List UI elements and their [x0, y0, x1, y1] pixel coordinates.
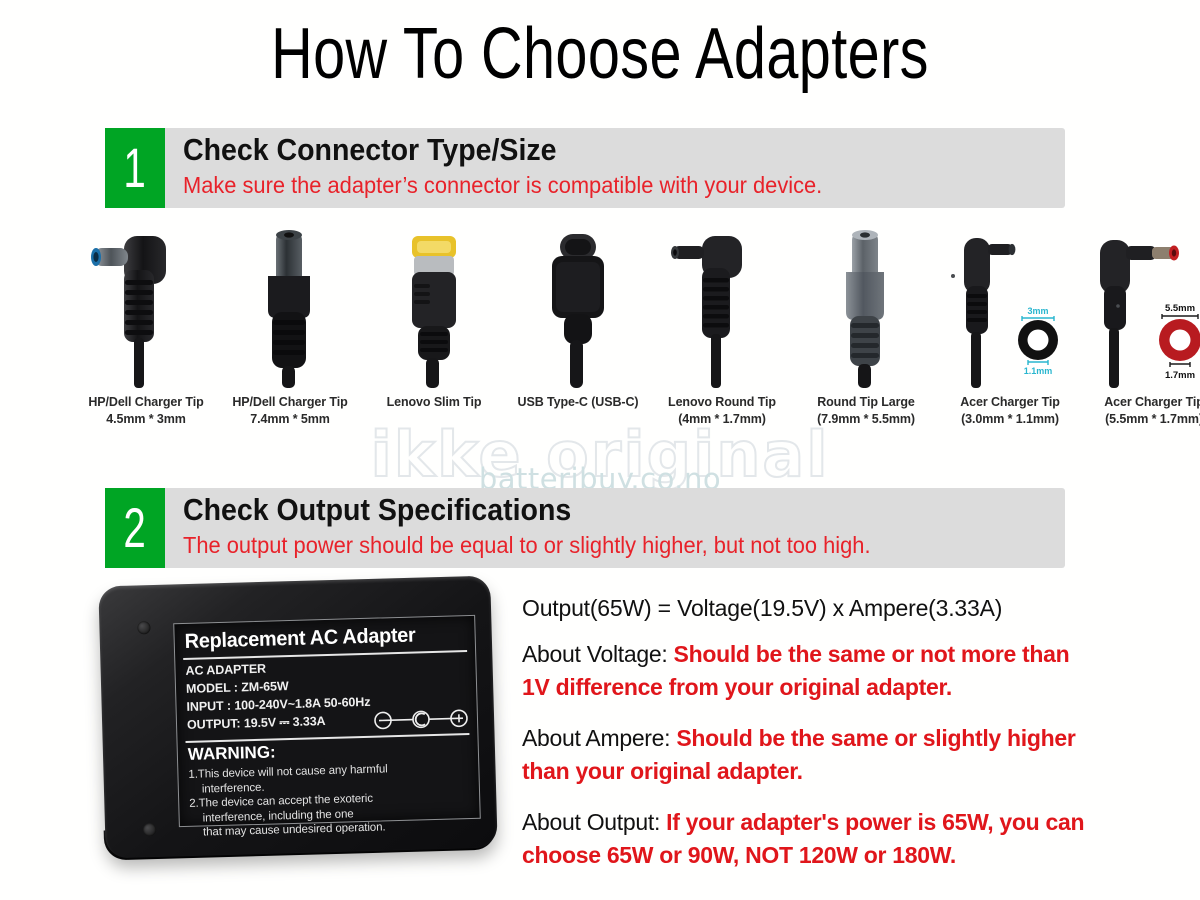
connector-name-2: Lenovo Slim Tip	[356, 394, 512, 411]
about-output-block: About Output: If your adapter's power is…	[522, 806, 1102, 872]
connector-name-5: Round Tip Large	[788, 394, 944, 411]
red-ring-diagram: 5.5mm 1.7mm	[1159, 303, 1200, 381]
step-2-subheading: The output power should be equal to or s…	[183, 532, 871, 559]
round-tip-large-gray-icon	[800, 228, 932, 388]
infographic-page: How To Choose Adapters 1 Check Connector…	[0, 0, 1200, 900]
usb-type-c-connector-icon	[512, 228, 644, 388]
black-ring-diagram: 3mm 1.1mm	[1018, 306, 1058, 376]
connector-item-6[interactable]: 3mm 1.1mm Acer Charger Tip (3.0mm * 1.1m…	[944, 228, 1076, 438]
connector-item-1[interactable]: HP/Dell Charger Tip 7.4mm * 5mm	[224, 228, 356, 438]
step-1-number-badge: 1	[105, 128, 165, 208]
connector-name-4: Lenovo Round Tip	[644, 394, 800, 411]
about-ampere-key: About Ampere:	[522, 725, 670, 751]
connector-gallery: HP/Dell Charger Tip 4.5mm * 3mm	[80, 228, 1130, 438]
adapter-label-line4: OUTPUT: 19.5V ⎓ 3.33A	[187, 714, 326, 733]
step-2-number: 2	[124, 488, 146, 568]
connector-name-0: HP/Dell Charger Tip	[68, 394, 224, 411]
step-2-heading: Check Output Specifications	[183, 492, 571, 528]
adapter-photo: Replacement AC Adapter AC ADAPTER MODEL …	[88, 575, 508, 875]
svg-text:3mm: 3mm	[1027, 306, 1048, 316]
lenovo-slim-rectangular-tip-icon	[368, 228, 500, 388]
connector-item-5[interactable]: Round Tip Large (7.9mm * 5.5mm)	[800, 228, 932, 438]
adapter-label-line3: INPUT : 100-240V~1.8A 50-60Hz	[186, 695, 370, 714]
output-equation: Output(65W) = Voltage(19.5V) x Ampere(3.…	[522, 592, 1102, 625]
connector-item-7[interactable]: 5.5mm 1.7mm Acer Charger Tip (5.5mm * 1.…	[1088, 228, 1200, 438]
connector-name-1: HP/Dell Charger Tip	[212, 394, 368, 411]
connector-item-4[interactable]: Lenovo Round Tip (4mm * 1.7mm)	[656, 228, 788, 438]
connector-name-3: USB Type-C (USB-C)	[500, 394, 656, 411]
about-voltage-key: About Voltage:	[522, 641, 667, 667]
acer-angled-tip-black-ring-icon: 3mm 1.1mm	[944, 228, 1076, 388]
connector-name-6: Acer Charger Tip	[932, 394, 1088, 411]
svg-text:1.7mm: 1.7mm	[1165, 370, 1195, 381]
center-positive-polarity-icon	[373, 708, 470, 731]
step-1-heading: Check Connector Type/Size	[183, 132, 556, 168]
screw-hole-icon	[143, 823, 156, 836]
adapter-spec-label: Replacement AC Adapter AC ADAPTER MODEL …	[173, 615, 481, 827]
svg-text:1.1mm: 1.1mm	[1024, 366, 1053, 376]
step-1-subheading: Make sure the adapter’s connector is com…	[183, 172, 822, 199]
warning-title: WARNING:	[188, 742, 276, 764]
connector-caption-2: Lenovo Slim Tip	[356, 394, 512, 411]
about-ampere-block: About Ampere: Should be the same or slig…	[522, 722, 1102, 788]
step-1-number: 1	[124, 128, 146, 208]
lenovo-round-angled-tip-icon	[656, 228, 788, 388]
hp-dell-angled-blue-tip-icon	[80, 228, 212, 388]
output-equation-block: Output(65W) = Voltage(19.5V) x Ampere(3.…	[522, 592, 1102, 625]
screw-hole-icon	[137, 621, 150, 634]
step-2-number-badge: 2	[105, 488, 165, 568]
connector-item-3[interactable]: USB Type-C (USB-C)	[512, 228, 644, 438]
warning-body: 1.This device will not cause any harmful…	[188, 760, 472, 840]
adapter-label-title: Replacement AC Adapter	[184, 622, 460, 654]
connector-item-2[interactable]: Lenovo Slim Tip	[368, 228, 500, 438]
adapter-label-line2: MODEL : ZM-65W	[186, 679, 289, 696]
step-2-band: 2 Check Output Specifications The output…	[105, 488, 1065, 568]
connector-name-7: Acer Charger Tip	[1076, 394, 1200, 411]
page-title: How To Choose Adapters	[120, 14, 1080, 94]
acer-angled-tip-red-ring-icon: 5.5mm 1.7mm	[1088, 228, 1200, 388]
about-voltage-block: About Voltage: Should be the same or not…	[522, 638, 1102, 704]
about-output-key: About Output:	[522, 809, 660, 835]
label-divider	[186, 733, 470, 742]
hp-dell-straight-barrel-tip-icon	[224, 228, 356, 388]
adapter-label-line1: AC ADAPTER	[185, 662, 266, 678]
connector-item-0[interactable]: HP/Dell Charger Tip 4.5mm * 3mm	[80, 228, 212, 438]
step-1-band: 1 Check Connector Type/Size Make sure th…	[105, 128, 1065, 208]
svg-text:5.5mm: 5.5mm	[1165, 303, 1195, 314]
connector-caption-3: USB Type-C (USB-C)	[500, 394, 656, 411]
